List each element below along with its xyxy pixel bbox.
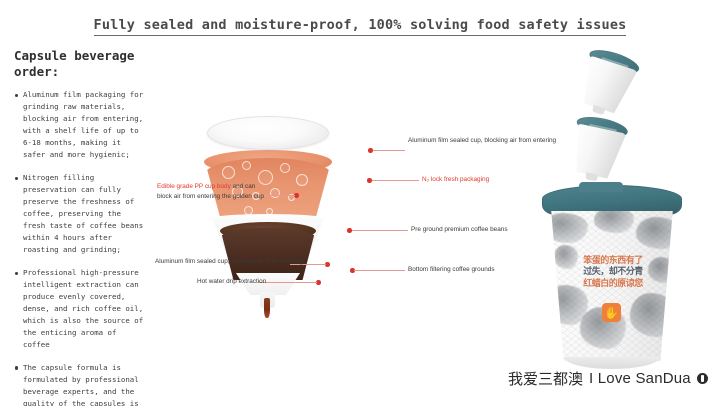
product-cup: 笨蛋的东西有了 过失，却不分青 红蜡白的原谅您 ✋ [528,185,696,375]
cup-artwork-blot [594,211,634,233]
nitrogen-bubble-icon [280,163,290,173]
left-info-panel: Capsule beverage order: Aluminum film pa… [14,48,146,406]
nitrogen-bubble-icon [296,174,308,186]
callout-bottom-filter: Bottom filtering coffee grounds [408,265,495,275]
nitrogen-bubble-icon [242,161,251,170]
circle-logo-icon [697,373,708,384]
cup-slogan-line-2: 过失，却不分青 [574,266,652,277]
callout-n2-lock: N₂ lock fresh packaging [422,175,489,185]
product-cup-lid-shape [542,185,682,215]
capsule-nub-shape [585,172,598,181]
list-item: Professional high-pressure intelligent e… [14,267,146,351]
list-item: Aluminum film packaging for grinding raw… [14,89,146,161]
leader-line-hot-water [259,282,317,283]
callout-aluminum-film-bottom: Aluminum film sealed cup, blocking air f… [155,257,303,267]
brand-chinese-text: 我爱三都澳 [508,368,583,389]
leader-line-bottom-filter [354,270,405,271]
nitrogen-bubble-icon [270,188,280,198]
coffee-grounds-shape [220,228,316,280]
product-cup-body-shape: 笨蛋的东西有了 过失，却不分青 红蜡白的原谅您 ✋ [550,211,674,361]
capsule-exploded-diagram [150,110,450,320]
cup-artwork-blot [550,213,588,243]
nitrogen-bubble-icon [222,166,235,179]
product-cup-slogan: 笨蛋的东西有了 过失，却不分青 红蜡白的原谅您 [574,255,652,289]
cup-slogan-line-1: 笨蛋的东西有了 [574,255,652,266]
callout-pp-cup-red-text: Edible grade PP cup body [157,183,231,190]
cup-artwork-blot [630,293,674,337]
hand-icon: ✋ [602,303,621,322]
callout-pp-cup-body: Edible grade PP cup body and can block a… [157,182,269,202]
leader-line-n2 [372,180,419,181]
brand-lockup: 我爱三都澳 I Love SanDua [508,368,708,389]
coffee-capsule-lower [567,113,630,181]
callout-dot-aluminum-top [368,148,373,153]
page-title-text: Fully sealed and moisture-proof, 100% so… [94,17,627,36]
callout-hot-water-drip: Hot water drip extraction [197,277,266,287]
page-title: Fully sealed and moisture-proof, 100% so… [0,17,720,33]
leader-line-aluminum-top [373,150,405,151]
list-item: The capsule formula is formulated by pro… [14,362,146,406]
leader-line-coffee-beans [352,230,408,231]
cup-artwork-blot [636,217,674,249]
aluminum-film-lid-shape [207,116,329,150]
callout-aluminum-film-top: Aluminum film sealed cup, blocking air f… [408,136,556,146]
cup-slogan-line-3: 红蜡白的原谅您 [574,278,652,289]
coffee-capsule-upper [574,45,641,116]
panel-heading: Capsule beverage order: [14,48,146,79]
feature-bullet-list: Aluminum film packaging for grinding raw… [14,89,146,406]
brand-english-text: I Love SanDua [589,370,691,387]
callout-coffee-beans: Pre ground premium coffee beans [411,225,508,235]
callout-dot-n2 [367,178,372,183]
list-item: Nitrogen filling preservation can fully … [14,172,146,256]
water-drip-shape [264,298,270,318]
callout-dot-coffee-beans [347,228,352,233]
